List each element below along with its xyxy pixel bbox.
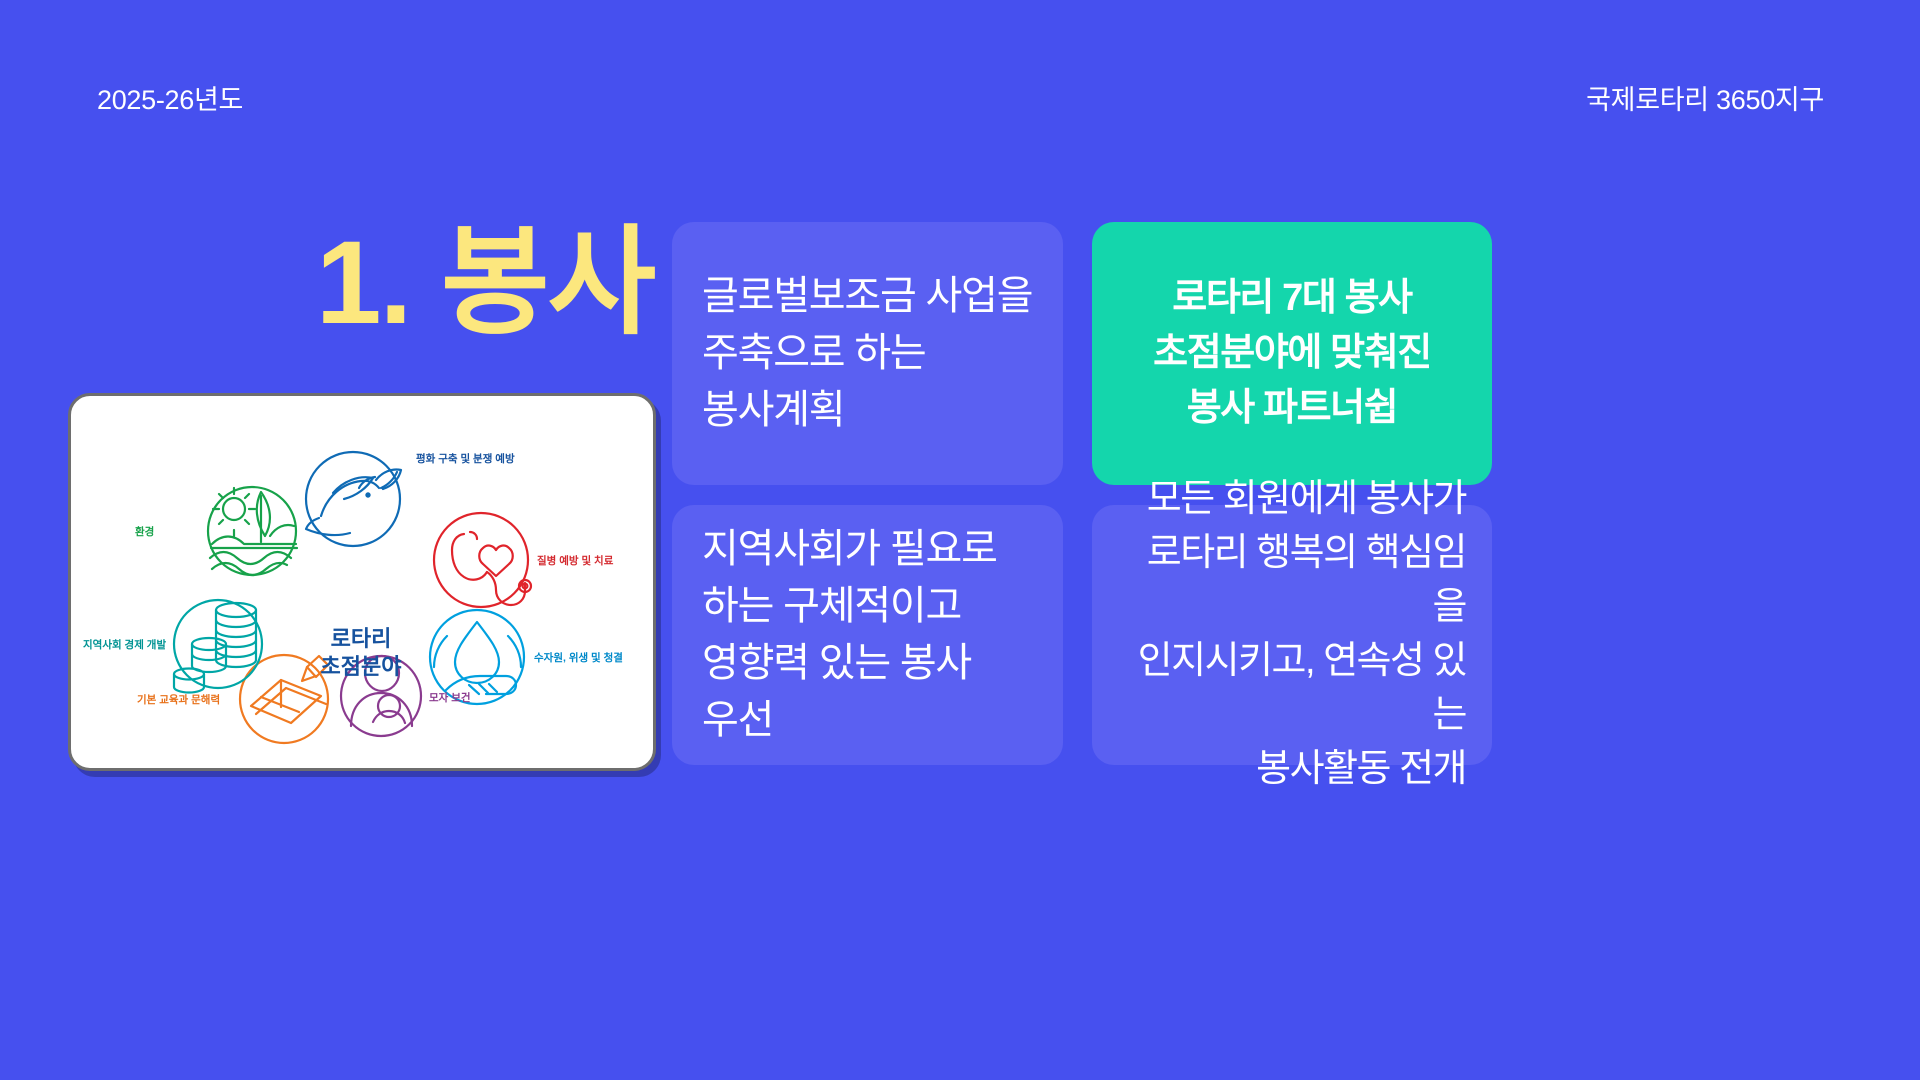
card-member-service-text: 모든 회원에게 봉사가 로타리 행복의 핵심임을 인지시키고, 연속성 있는 봉… <box>1114 473 1466 797</box>
diagram-center-line1: 로타리 <box>331 626 392 651</box>
page-title: 1. 봉사 <box>300 222 670 346</box>
coins-icon <box>174 600 262 693</box>
header-year-label: 2025-26년도 <box>97 78 243 117</box>
focus-label-environment: 환경 <box>135 525 154 538</box>
card-community-need-text: 지역사회가 필요로 하는 구체적이고 영향력 있는 봉사 우선 <box>702 521 1035 748</box>
page-header: 2025-26년도 국제로타리 3650지구 <box>0 78 1920 122</box>
focus-label-disease: 질병 예방 및 치료 <box>537 554 614 567</box>
stethoscope-heart-icon <box>434 513 531 607</box>
focus-label-water: 수자원, 위생 및 청결 <box>534 651 623 664</box>
focus-label-peace: 평화 구축 및 분쟁 예방 <box>416 452 515 465</box>
focus-label-maternal: 모자 보건 <box>429 691 471 704</box>
card-partnership-text: 로타리 7대 봉사 초점분야에 맞춰진 봉사 파트너쉽 <box>1114 271 1470 436</box>
card-global-grant-text: 글로벌보조금 사업을 주축으로 하는 봉사계획 <box>702 268 1035 438</box>
focus-label-education: 기본 교육과 문해력 <box>137 693 220 706</box>
header-district-label: 국제로타리 3650지구 <box>1586 78 1824 117</box>
rotary-focus-areas-card: 평화 구축 및 분쟁 예방 질병 예방 및 치료 수자 <box>68 393 656 771</box>
book-pencil-icon <box>240 655 328 743</box>
card-community-need[interactable]: 지역사회가 필요로 하는 구체적이고 영향력 있는 봉사 우선 <box>672 505 1063 765</box>
focus-label-economic: 지역사회 경제 개발 <box>83 638 166 651</box>
card-global-grant[interactable]: 글로벌보조금 사업을 주축으로 하는 봉사계획 <box>672 222 1063 485</box>
dove-icon <box>306 452 401 546</box>
water-drop-hand-icon <box>430 610 524 704</box>
card-member-service[interactable]: 모든 회원에게 봉사가 로타리 행복의 핵심임을 인지시키고, 연속성 있는 봉… <box>1092 505 1492 765</box>
environment-leaf-icon <box>208 487 297 575</box>
card-partnership[interactable]: 로타리 7대 봉사 초점분야에 맞춰진 봉사 파트너쉽 <box>1092 222 1492 485</box>
diagram-center-line2: 초점분야 <box>321 654 402 679</box>
